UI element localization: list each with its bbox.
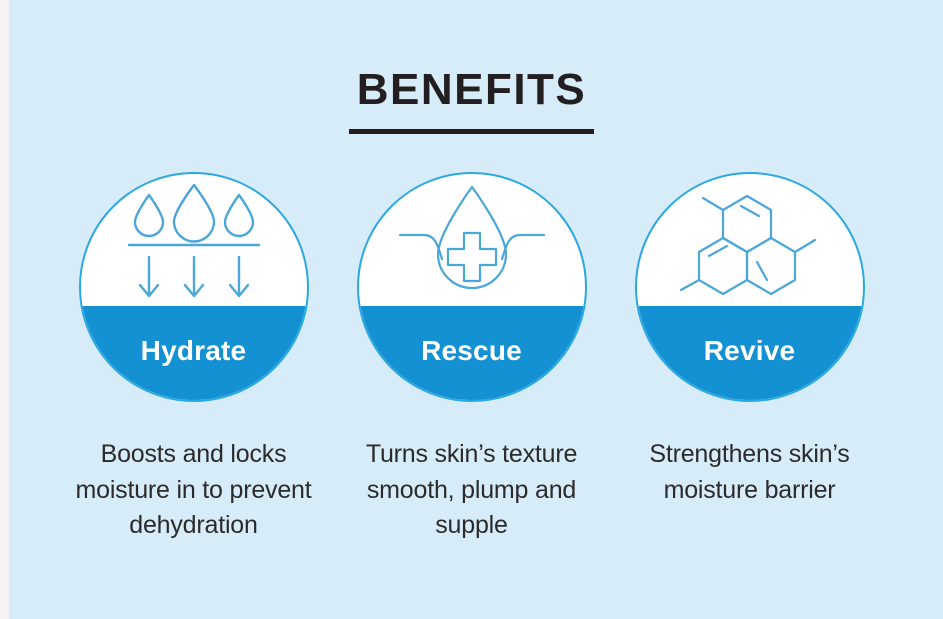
- benefit-column-rescue: Rescue Turns skin’s texture smooth, plum…: [333, 172, 611, 544]
- benefit-label-revive: Revive: [637, 306, 863, 400]
- droplet-with-plus-icon: [359, 174, 585, 310]
- benefit-label-rescue: Rescue: [359, 306, 585, 400]
- water-droplets-arrows-down-icon: [81, 174, 307, 310]
- molecule-hexagon-rings-icon: [637, 174, 863, 310]
- benefits-infographic: BENEFITS: [0, 0, 943, 619]
- benefit-badge-rescue: Rescue: [357, 172, 587, 402]
- benefit-badge-revive: Revive: [635, 172, 865, 402]
- benefit-column-hydrate: Hydrate Boosts and locks moisture in to …: [55, 172, 333, 544]
- benefits-columns: Hydrate Boosts and locks moisture in to …: [0, 172, 943, 544]
- page-title: BENEFITS: [0, 68, 943, 112]
- benefit-label-hydrate: Hydrate: [81, 306, 307, 400]
- heading-block: BENEFITS: [0, 68, 943, 134]
- benefit-column-revive: Revive Strengthens skin’s moisture barri…: [611, 172, 889, 508]
- benefit-caption-hydrate: Boosts and locks moisture in to prevent …: [60, 437, 328, 544]
- benefit-caption-rescue: Turns skin’s texture smooth, plump and s…: [338, 437, 606, 544]
- benefit-badge-hydrate: Hydrate: [79, 172, 309, 402]
- title-underline-rule: [349, 129, 594, 134]
- benefit-caption-revive: Strengthens skin’s moisture barrier: [616, 437, 884, 508]
